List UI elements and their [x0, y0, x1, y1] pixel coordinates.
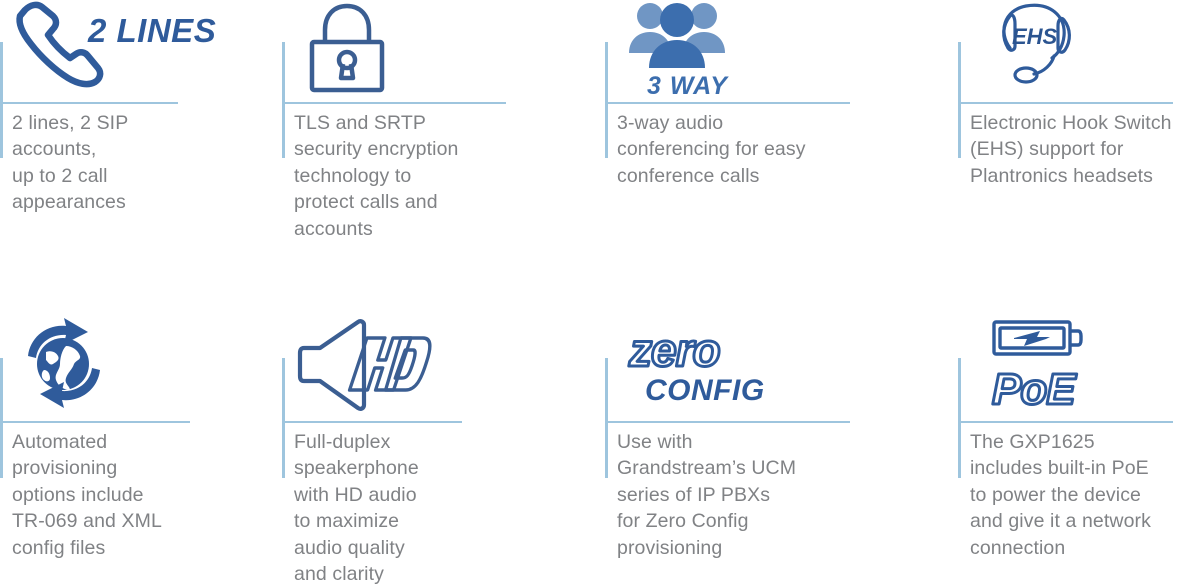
- card-horizontal-rule: [958, 421, 1173, 423]
- card-horizontal-rule: [605, 421, 850, 423]
- card-horizontal-rule: [0, 102, 178, 104]
- battery-bolt-poe-icon: PoE: [988, 316, 1108, 414]
- card-vertical-rule: [0, 358, 3, 478]
- svg-text:EHS: EHS: [1012, 24, 1058, 49]
- padlock-icon: [300, 2, 410, 94]
- feature-grid: 2 LINES 2 lines, 2 SIP accounts, up to 2…: [0, 0, 1200, 577]
- card-horizontal-rule: [958, 102, 1173, 104]
- zero-config-icon: zero CONFIG: [623, 322, 773, 414]
- svg-text:CONFIG: CONFIG: [645, 374, 765, 407]
- card-vertical-rule: [0, 42, 3, 158]
- card-vertical-rule: [605, 42, 608, 158]
- card-horizontal-rule: [282, 421, 462, 423]
- card-horizontal-rule: [282, 102, 506, 104]
- card-horizontal-rule: [605, 102, 850, 104]
- svg-text:PoE: PoE: [992, 365, 1077, 414]
- card-vertical-rule: [958, 42, 961, 158]
- phone-handset-2-lines-icon: 2 LINES: [10, 2, 190, 94]
- card-horizontal-rule: [0, 421, 190, 423]
- card-vertical-rule: [605, 358, 608, 478]
- feature-description: The GXP1625 includes built-in PoE to pow…: [970, 429, 1151, 561]
- svg-text:zero: zero: [628, 324, 720, 376]
- feature-description: Full-duplex speakerphone with HD audio t…: [294, 429, 419, 587]
- feature-card-auto-provisioning: Automated provisioning options include T…: [0, 300, 270, 577]
- feature-card-two-lines: 2 LINES 2 lines, 2 SIP accounts, up to 2…: [0, 0, 270, 290]
- feature-card-tls-srtp: TLS and SRTP security encryption technol…: [282, 0, 582, 290]
- feature-card-hd-audio: Full-duplex speakerphone with HD audio t…: [282, 300, 582, 577]
- svg-text:2 LINES: 2 LINES: [87, 12, 216, 49]
- card-vertical-rule: [958, 358, 961, 478]
- feature-card-poe: PoE The GXP1625 includes built-in PoE to…: [958, 300, 1200, 577]
- card-vertical-rule: [282, 358, 285, 478]
- feature-description: 2 lines, 2 SIP accounts, up to 2 call ap…: [12, 110, 128, 216]
- feature-description: TLS and SRTP security encryption technol…: [294, 110, 458, 242]
- feature-description: Electronic Hook Switch (EHS) support for…: [970, 110, 1172, 189]
- card-vertical-rule: [282, 42, 285, 158]
- feature-card-ehs: EHS Electronic Hook Switch (EHS) support…: [958, 0, 1200, 290]
- feature-description: Use with Grandstream’s UCM series of IP …: [617, 429, 796, 561]
- three-people-conference-icon: 3 WAY: [623, 0, 763, 96]
- feature-description: Automated provisioning options include T…: [12, 429, 162, 561]
- feature-card-three-way: 3 WAY 3-way audio conferencing for easy …: [605, 0, 935, 290]
- globe-refresh-arrows-icon: [8, 312, 128, 414]
- headset-ehs-icon: EHS: [988, 2, 1098, 94]
- feature-description: 3-way audio conferencing for easy confer…: [617, 110, 806, 189]
- feature-card-zero-config: zero CONFIG Use with Grandstream’s UCM s…: [605, 300, 935, 577]
- speaker-hd-icon: [296, 318, 446, 414]
- svg-text:3 WAY: 3 WAY: [647, 72, 729, 100]
